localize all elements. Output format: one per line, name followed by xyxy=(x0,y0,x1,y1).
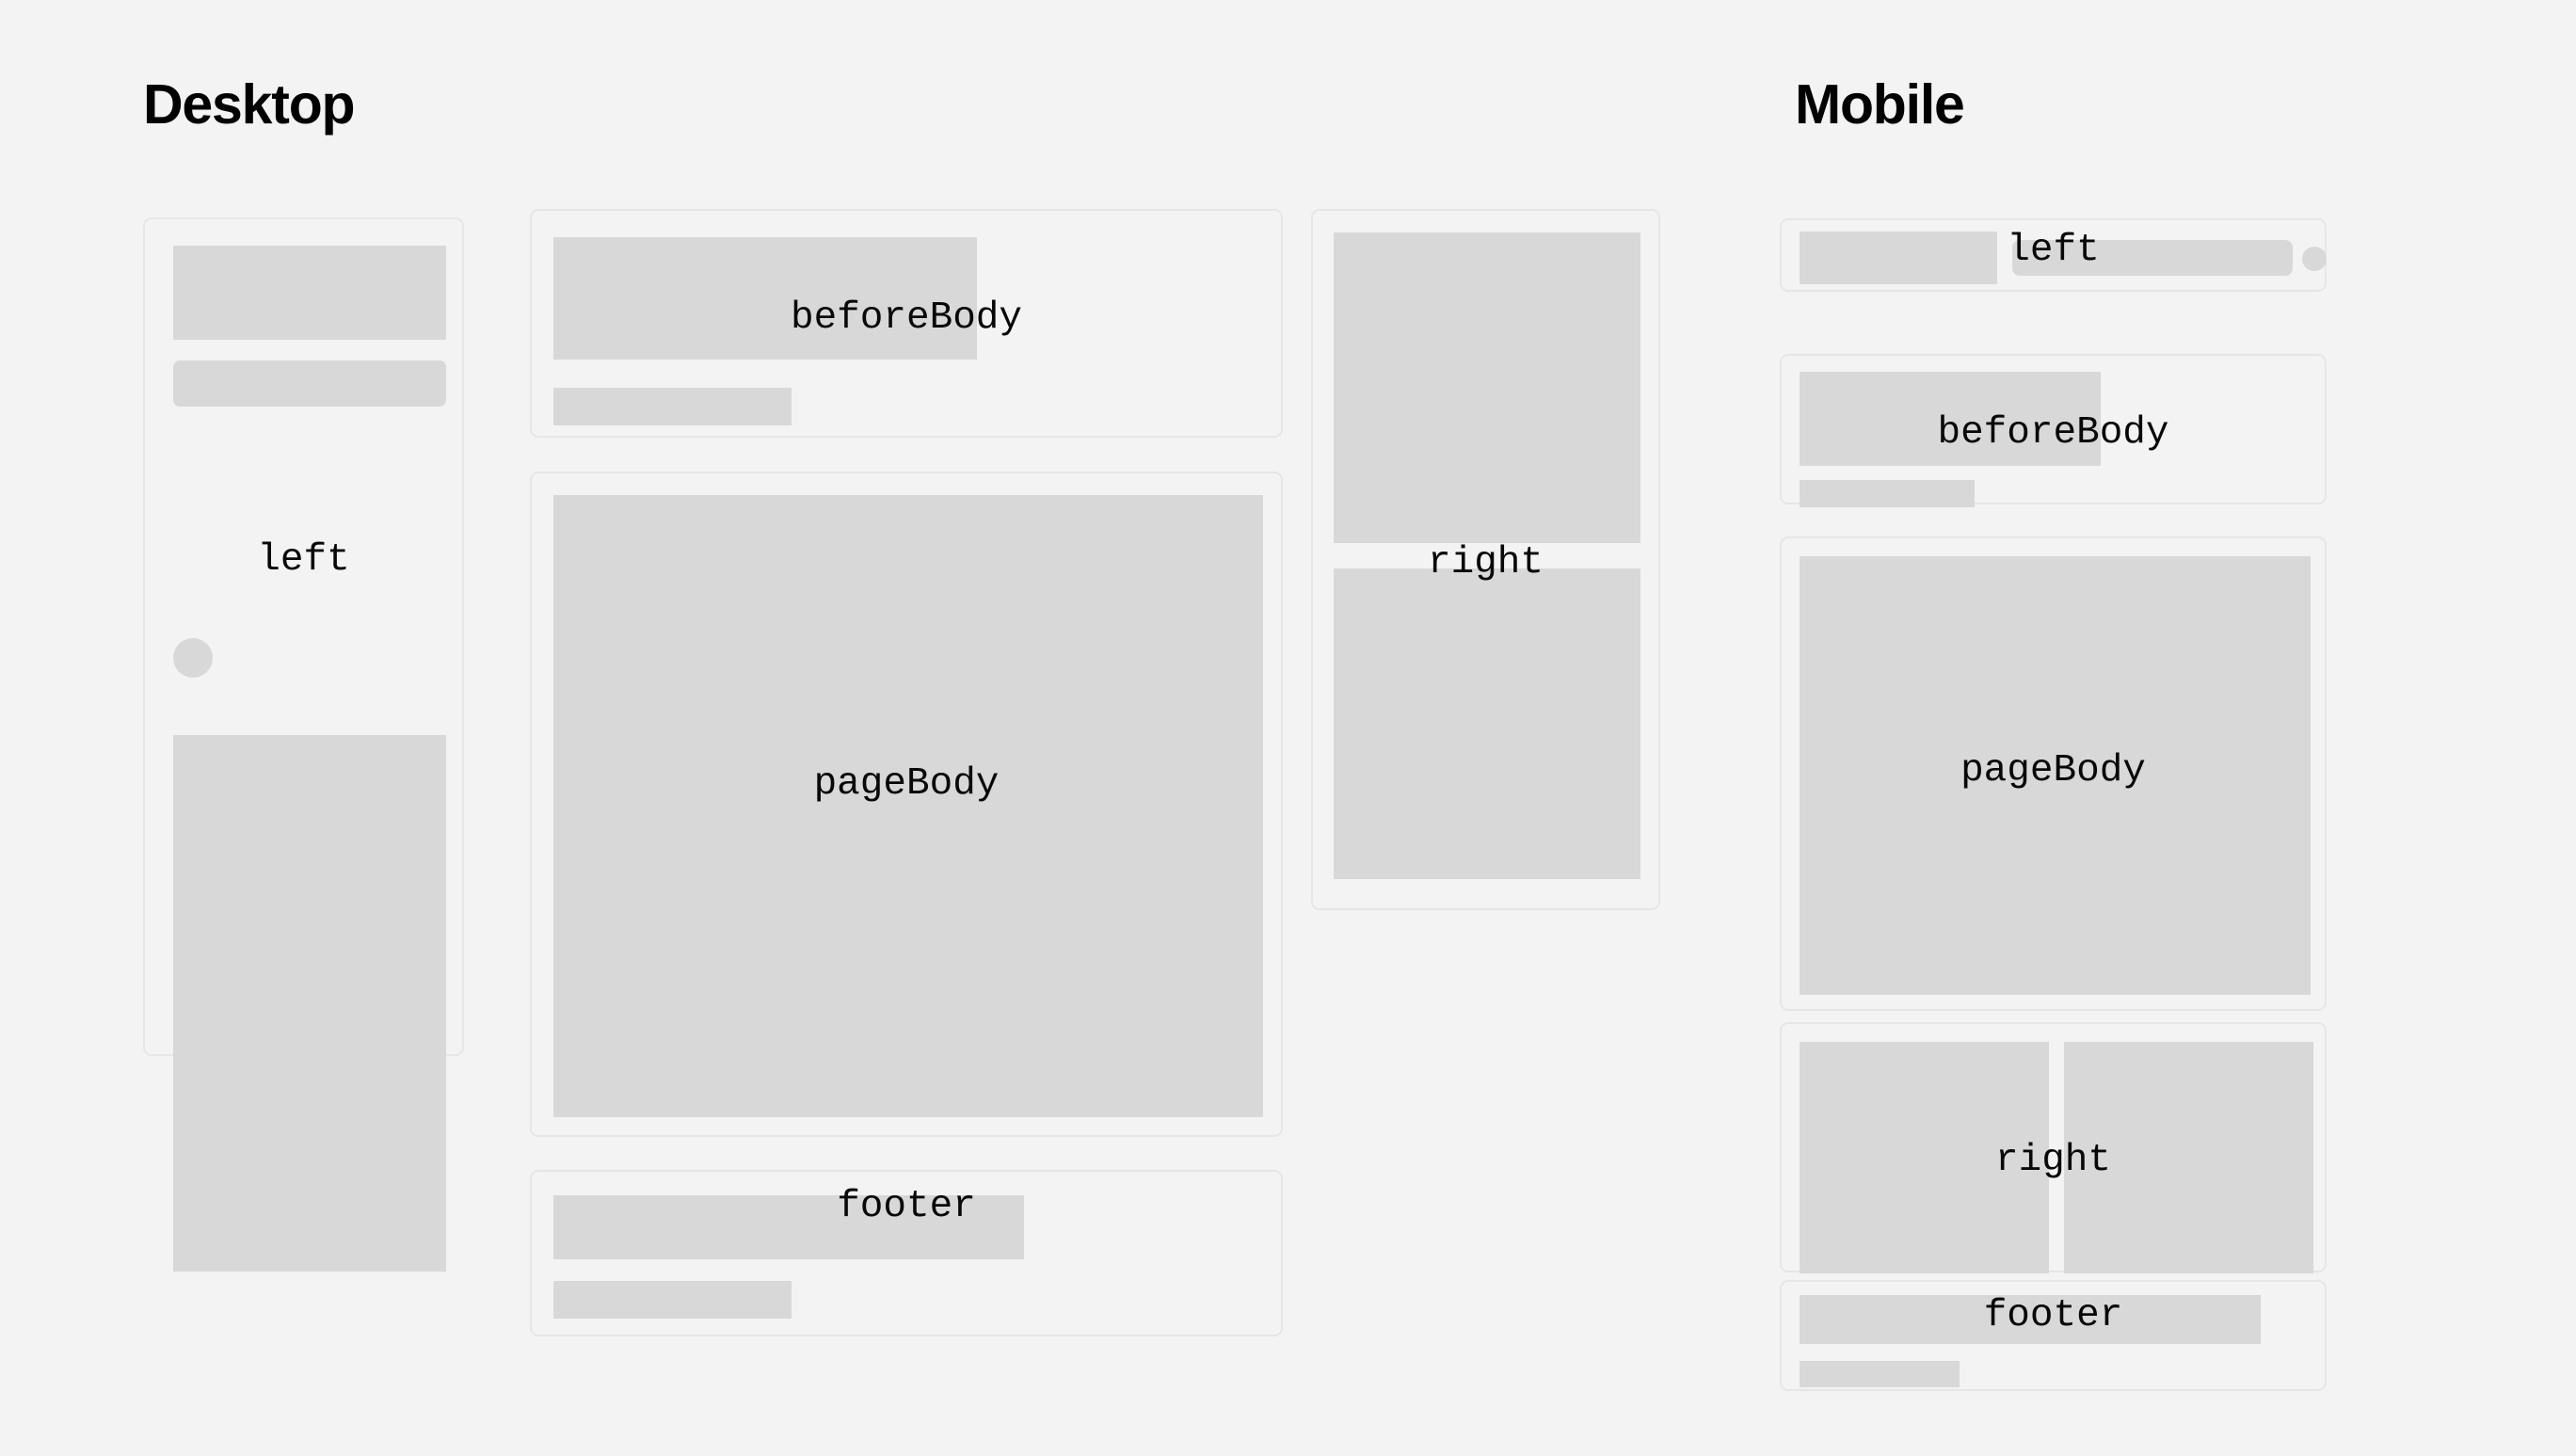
mobile-region-beforebody-card[interactable] xyxy=(1780,354,2327,504)
desktop-region-beforebody-card[interactable] xyxy=(530,209,1283,438)
mobile-beforebody-main-block xyxy=(1800,372,2101,466)
desktop-pagebody-body-block xyxy=(553,495,1263,1117)
mobile-right-right-block xyxy=(2064,1042,2313,1273)
desktop-left-avatar-dot-icon xyxy=(173,638,213,678)
mobile-section-title: Mobile xyxy=(1795,72,1964,136)
desktop-left-subheader-bar xyxy=(173,360,446,407)
mobile-region-left-card[interactable] xyxy=(1780,218,2327,292)
desktop-beforebody-caption-bar xyxy=(553,388,792,425)
mobile-left-header-block xyxy=(1800,232,1997,284)
desktop-right-bottom-block xyxy=(1334,568,1640,879)
desktop-footer-caption-bar xyxy=(553,1281,792,1319)
mobile-beforebody-caption-bar xyxy=(1800,480,1975,507)
desktop-left-header-block xyxy=(173,246,446,340)
mobile-left-subheader-pill xyxy=(2012,240,2293,276)
mobile-region-right-card[interactable] xyxy=(1780,1022,2327,1272)
desktop-right-top-block xyxy=(1334,232,1640,543)
desktop-region-pagebody-card[interactable] xyxy=(530,472,1283,1137)
mobile-footer-caption-bar xyxy=(1800,1361,1960,1387)
mobile-right-left-block xyxy=(1800,1042,2049,1273)
desktop-region-right-card[interactable] xyxy=(1311,209,1660,910)
desktop-section-title: Desktop xyxy=(143,72,354,136)
desktop-beforebody-main-block xyxy=(553,237,977,360)
mobile-pagebody-body-block xyxy=(1800,556,2311,995)
mobile-footer-main-block xyxy=(1800,1295,2261,1344)
desktop-footer-main-block xyxy=(553,1195,1024,1259)
desktop-region-left-card[interactable] xyxy=(143,217,464,1056)
mobile-region-pagebody-card[interactable] xyxy=(1780,536,2327,1011)
layout-preview-stage: Desktop left beforeBody pageBody footer … xyxy=(0,0,2576,1456)
desktop-left-content-block xyxy=(173,735,446,1272)
desktop-region-footer-card[interactable] xyxy=(530,1170,1283,1336)
mobile-left-avatar-dot-icon xyxy=(2302,247,2327,271)
mobile-region-footer-card[interactable] xyxy=(1780,1280,2327,1391)
